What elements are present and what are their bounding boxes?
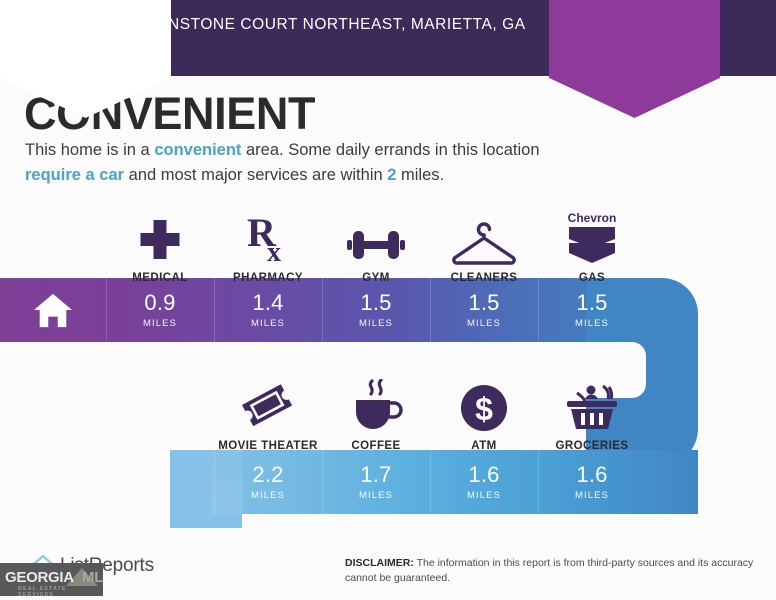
- distance-atm: 1.6 MILES: [430, 450, 538, 514]
- column-divider: [430, 278, 431, 342]
- mls-name-primary: GEORGIA: [5, 569, 74, 586]
- column-divider: [430, 450, 431, 514]
- column-divider: [322, 450, 323, 514]
- distance-value: 1.6: [576, 464, 607, 486]
- chevron-gas-icon: Chevron: [563, 209, 621, 265]
- subtitle-part-4: miles.: [396, 166, 444, 184]
- subtitle-part-2: area. Some daily errands in this locatio…: [241, 141, 539, 159]
- service-cleaners: CLEANERS: [430, 196, 538, 284]
- distance-unit: MILES: [467, 490, 501, 501]
- subtitle-highlight-2: require a car: [25, 166, 124, 184]
- service-coffee: COFFEE: [322, 364, 430, 452]
- svg-text:x: x: [267, 237, 281, 265]
- svg-text:$: $: [475, 391, 493, 427]
- disclaimer-label: DISCLAIMER:: [345, 557, 414, 569]
- coffee-cup-icon: [348, 377, 404, 433]
- disclaimer: DISCLAIMER: The information in this repo…: [345, 556, 765, 586]
- footprints-icon: [62, 66, 110, 100]
- service-groceries: GROCERIES: [538, 364, 646, 452]
- service-medical: MEDICAL: [106, 196, 214, 284]
- distance-value: 0.9: [144, 292, 175, 314]
- service-gym: GYM: [322, 196, 430, 284]
- mls-tagline: REAL ESTATE SERVICES: [18, 586, 103, 596]
- distance-value: 1.5: [576, 292, 607, 314]
- subtitle-part-1: This home is in a: [25, 141, 154, 159]
- dollar-circle-icon: $: [459, 377, 509, 433]
- subtitle-part-3: and most major services are within: [124, 166, 387, 184]
- distance-value: 1.5: [360, 292, 391, 314]
- row2-icon-strip: MOVIE THEATER COFFEE $ ATM: [0, 364, 776, 452]
- georgia-mls-watermark: GEORGIA MLS REAL ESTATE SERVICES: [0, 563, 103, 596]
- svg-text:Chevron: Chevron: [568, 211, 617, 225]
- column-divider: [214, 278, 215, 342]
- distance-movie-theater: 2.2 MILES: [214, 450, 322, 514]
- ticket-icon: [240, 377, 296, 433]
- distance-unit: MILES: [575, 318, 609, 329]
- column-divider: [538, 450, 539, 514]
- distance-value: 1.6: [468, 464, 499, 486]
- grocery-basket-icon: [563, 377, 621, 433]
- distance-unit: MILES: [575, 490, 609, 501]
- distance-medical: 0.9 MILES: [106, 278, 214, 342]
- medical-cross-icon: [135, 209, 185, 265]
- area-report-badge: [549, 0, 720, 118]
- distance-coffee: 1.7 MILES: [322, 450, 430, 514]
- distance-gas: 1.5 MILES: [538, 278, 646, 342]
- service-pharmacy: R x PHARMACY: [214, 196, 322, 284]
- service-gas: Chevron GAS: [538, 196, 646, 284]
- distance-value: 2.2: [252, 464, 283, 486]
- distance-unit: MILES: [251, 318, 285, 329]
- row1-icon-strip: MEDICAL R x PHARMACY GYM: [0, 196, 776, 284]
- distance-value: 1.5: [468, 292, 499, 314]
- service-atm: $ ATM: [430, 364, 538, 452]
- home-marker: [0, 278, 106, 342]
- distance-value: 1.4: [252, 292, 283, 314]
- rx-icon: R x: [243, 209, 293, 265]
- column-divider: [322, 278, 323, 342]
- distance-pharmacy: 1.4 MILES: [214, 278, 322, 342]
- distance-gym: 1.5 MILES: [322, 278, 430, 342]
- mls-name-secondary: MLS: [82, 569, 103, 586]
- distance-value: 1.7: [360, 464, 391, 486]
- page-subtitle: This home is in a convenient area. Some …: [25, 138, 555, 188]
- distance-unit: MILES: [467, 318, 501, 329]
- distance-groceries: 1.6 MILES: [538, 450, 646, 514]
- dumbbell-icon: [347, 209, 405, 265]
- column-divider: [106, 278, 107, 342]
- area-report-page: 2345 BROWNSTONE COURT NORTHEAST, MARIETT…: [0, 0, 776, 600]
- distance-cleaners: 1.5 MILES: [430, 278, 538, 342]
- distance-unit: MILES: [359, 490, 393, 501]
- distance-unit: MILES: [143, 318, 177, 329]
- subtitle-highlight-1: convenient: [154, 141, 241, 159]
- hanger-icon: [452, 209, 516, 265]
- service-movie-theater: MOVIE THEATER: [214, 364, 322, 452]
- column-divider: [538, 278, 539, 342]
- distance-unit: MILES: [251, 490, 285, 501]
- column-divider: [214, 450, 215, 514]
- distance-unit: MILES: [359, 318, 393, 329]
